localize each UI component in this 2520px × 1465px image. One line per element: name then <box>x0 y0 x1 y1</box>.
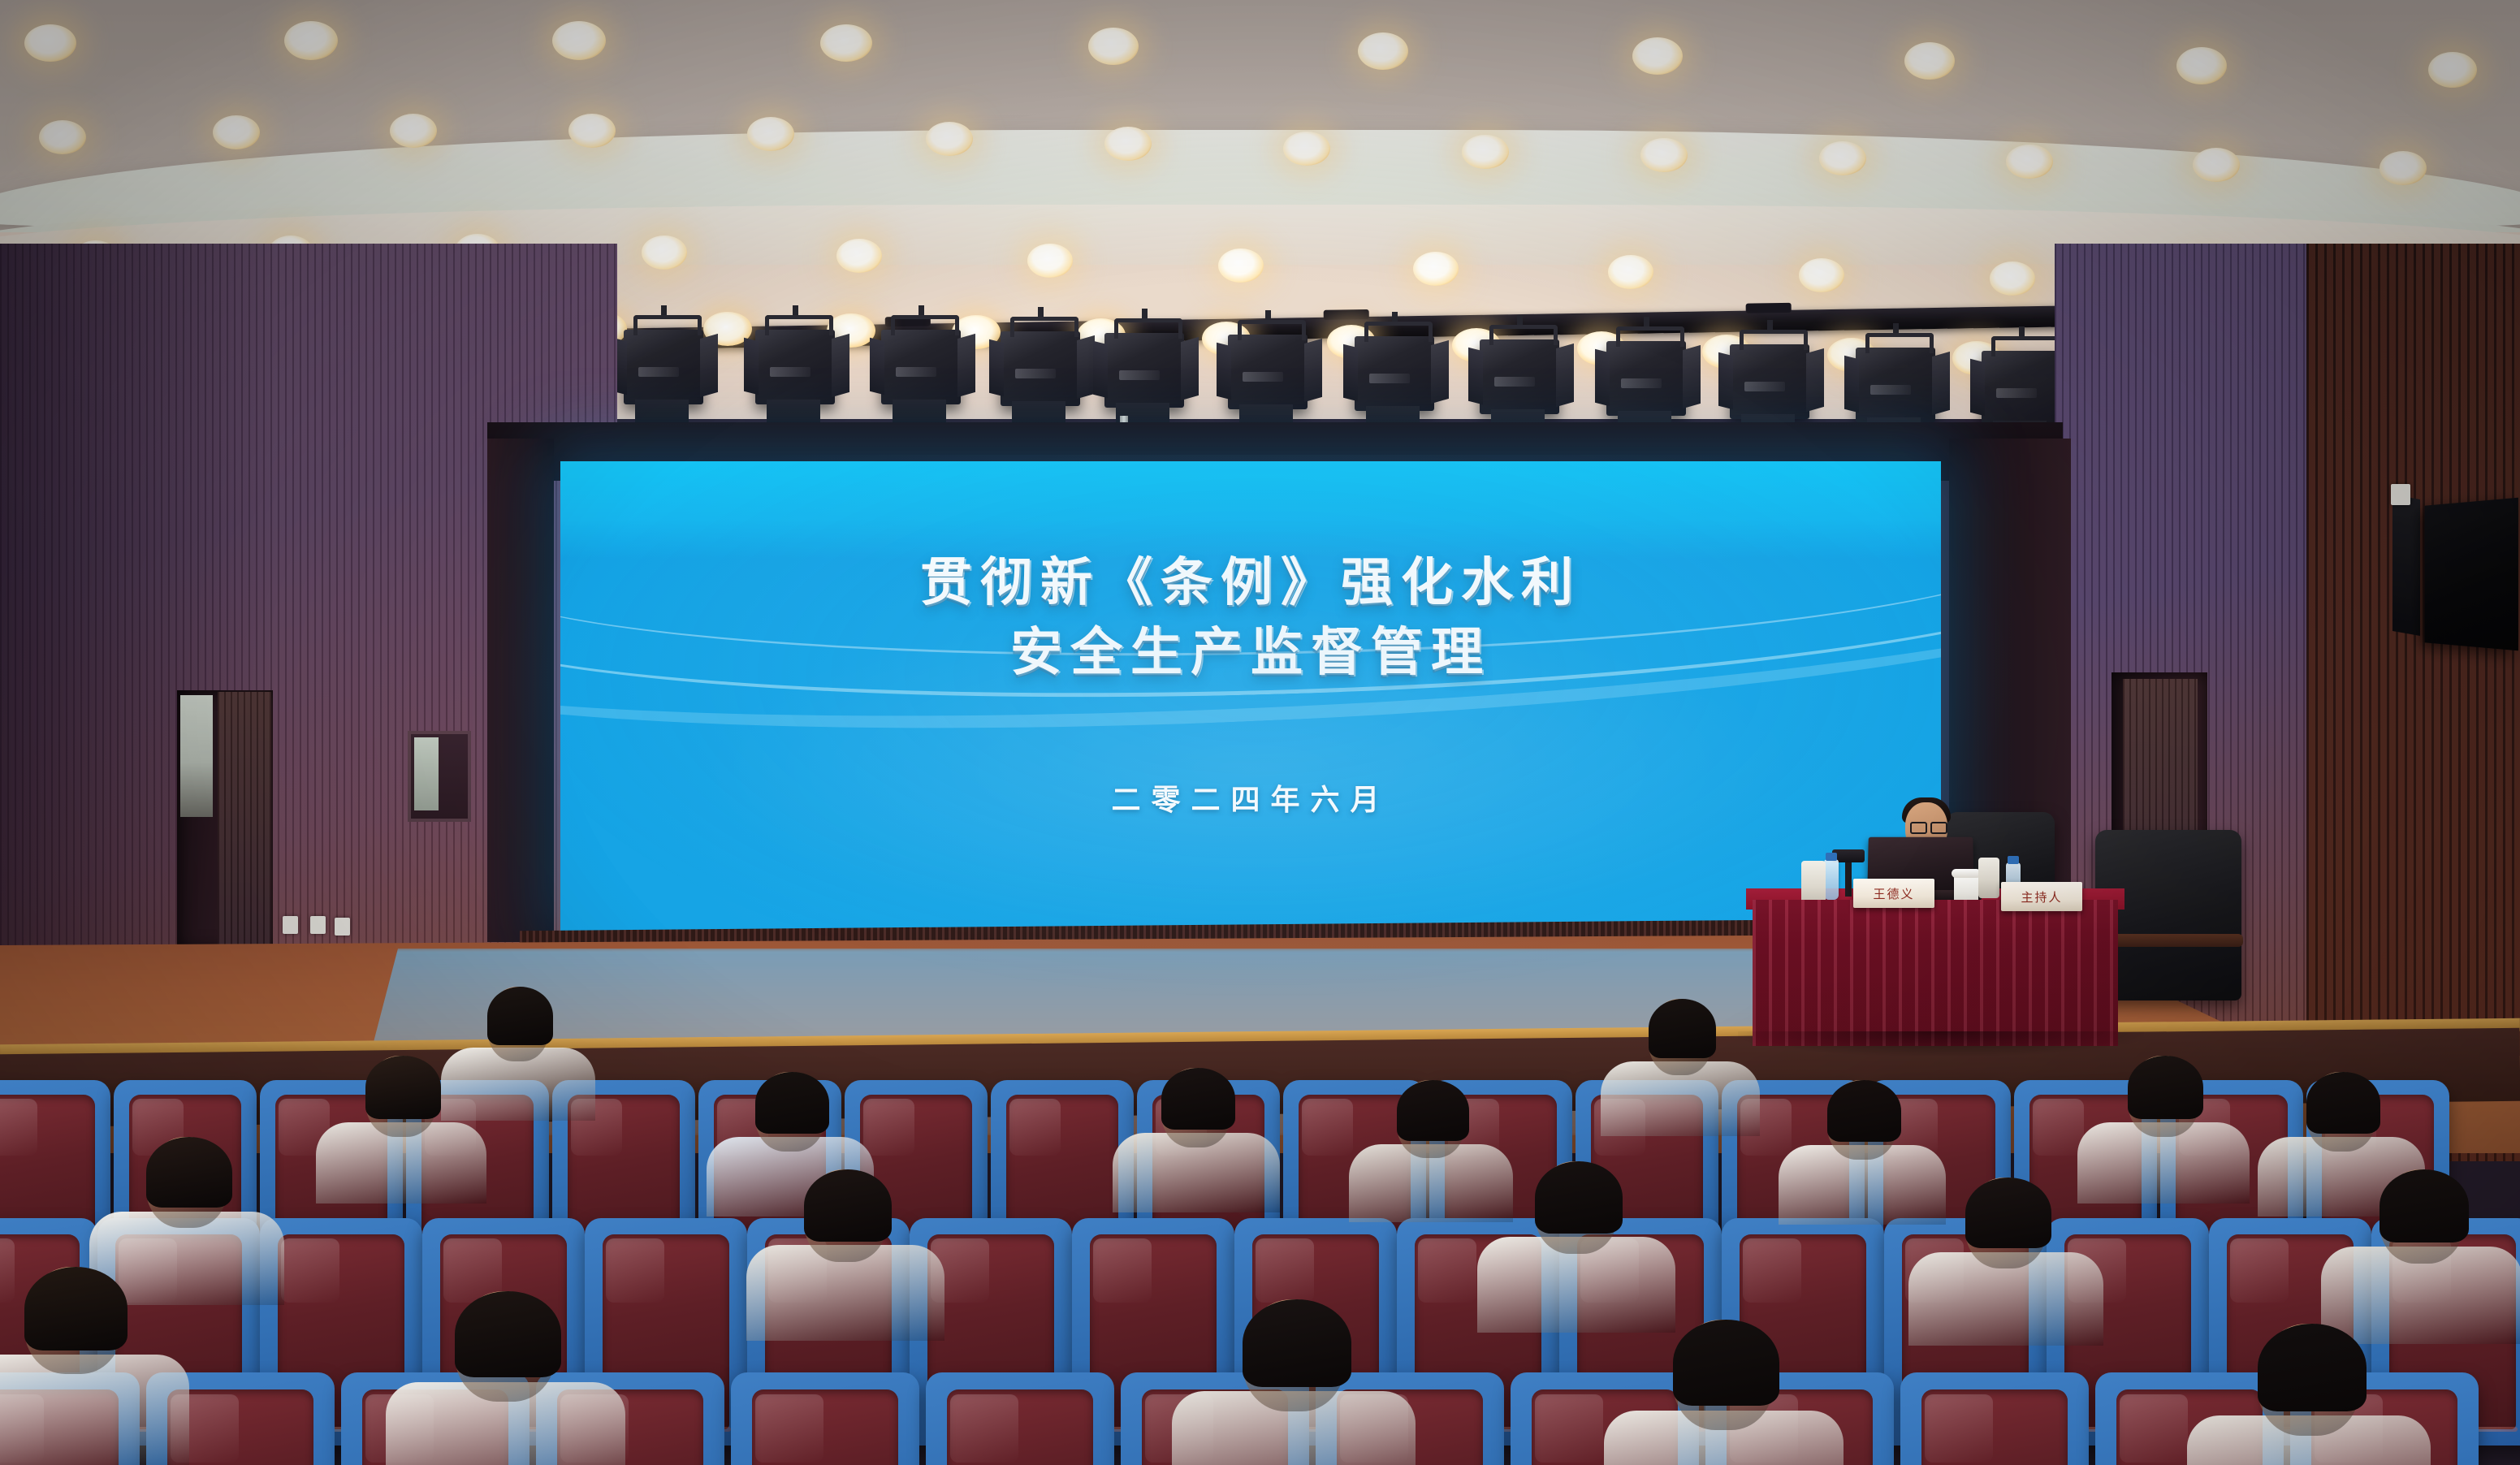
speaker-cable-plate <box>2391 484 2410 505</box>
stage-spotlight-7 <box>755 330 835 404</box>
attendee-hair <box>365 1056 441 1119</box>
stage-spotlight-15 <box>1730 344 1809 419</box>
downlight-r2-14 <box>2380 151 2427 185</box>
stage-spotlight-12 <box>1355 336 1434 411</box>
downlight-r3-8 <box>1413 252 1459 286</box>
stage-spotlight-13 <box>1480 339 1559 414</box>
slide-title-line-1: 贯彻新《条例》强化水利 <box>560 549 1941 619</box>
downlight-r2-10 <box>1640 138 1688 172</box>
downlight-r3-7 <box>1218 248 1264 283</box>
downlight-r2-7 <box>1104 127 1152 161</box>
attendee-hair <box>2306 1072 2380 1134</box>
downlight-r2-12 <box>2006 145 2053 179</box>
stage-spotlight-16 <box>1856 348 1935 422</box>
head-table-skirt <box>1753 900 2118 1046</box>
attendee-hair <box>1397 1080 1469 1141</box>
downlight-r2-5 <box>747 117 794 151</box>
attendee-hair <box>755 1072 829 1134</box>
downlight-r3-4 <box>642 236 687 270</box>
attendee-hair <box>1827 1080 1901 1142</box>
attendee-hair <box>2128 1056 2203 1119</box>
attendee-hair <box>804 1169 892 1242</box>
audience-seat-r3-6[interactable] <box>926 1372 1114 1465</box>
downlight-r1-6 <box>1358 32 1408 70</box>
attendee-hair <box>1535 1161 1623 1234</box>
stage-spotlight-6 <box>624 330 703 404</box>
wall-speaker <box>2425 498 2518 651</box>
downlight-r3-11 <box>1990 261 2035 296</box>
water-bottle-cap-2 <box>2008 856 2019 864</box>
stage-spotlight-14 <box>1606 341 1686 416</box>
downlight-r1-10 <box>2428 52 2477 88</box>
downlight-r3-9 <box>1608 255 1653 289</box>
water-bottle-1 <box>1824 859 1839 900</box>
attendee-hair <box>1673 1320 1779 1406</box>
proscenium-left-jamb <box>487 439 554 942</box>
audience-seat-r3-11[interactable] <box>1900 1372 2089 1465</box>
led-presentation-screen: 贯彻新《条例》强化水利 安全生产监督管理 二零二四年六月 <box>560 461 1941 934</box>
attendee-hair <box>455 1291 561 1377</box>
downlight-r2-9 <box>1462 135 1509 169</box>
attendee-hair <box>24 1267 128 1350</box>
attendee-hair <box>1965 1178 2051 1248</box>
left-doorway-light-gap <box>180 695 213 817</box>
tea-cup-lid <box>1952 869 1981 878</box>
downlight-r2-2 <box>213 115 260 149</box>
wall-speaker-side <box>2392 495 2420 636</box>
slide-title-line-2: 安全生产监督管理 <box>560 619 1941 689</box>
downlight-r1-8 <box>1904 42 1955 80</box>
water-bottle-cap-1 <box>1826 853 1837 861</box>
downlight-r1-2 <box>284 21 338 60</box>
stage-spotlight-11 <box>1228 335 1308 409</box>
auditorium-photo: 贯彻新《条例》强化水利 安全生产监督管理 二零二四年六月 王德义 主持人 <box>0 0 2520 1465</box>
downlight-r3-5 <box>836 239 882 273</box>
downlight-r2-11 <box>1819 141 1866 175</box>
attendee-hair <box>2258 1324 2367 1411</box>
downlight-r1-5 <box>1088 28 1139 65</box>
audience-seat-r3-5[interactable] <box>731 1372 919 1465</box>
downlight-r2-4 <box>568 114 616 148</box>
downlight-r1-7 <box>1632 37 1683 75</box>
attendee-hair <box>487 987 553 1045</box>
downlight-r2-8 <box>1283 132 1330 166</box>
downlight-r2-1 <box>39 120 86 154</box>
downlight-r1-3 <box>552 21 606 60</box>
downlight-r1-4 <box>820 24 872 62</box>
downlight-r1-1 <box>24 24 76 62</box>
downlight-r1-9 <box>2176 47 2227 84</box>
light-switch-1[interactable] <box>283 916 298 934</box>
attendee-hair <box>1161 1068 1235 1130</box>
stage-spotlight-10 <box>1104 333 1184 408</box>
presenter-glasses-icon <box>1910 822 1944 831</box>
downlight-r3-6 <box>1027 244 1073 278</box>
microphone-stand <box>1845 859 1852 897</box>
head-table-shadow <box>1738 1031 2144 1056</box>
downlight-r2-13 <box>2193 148 2240 182</box>
stage-spotlight-8 <box>881 330 961 404</box>
downlight-r2-6 <box>926 122 973 156</box>
attendee-hair <box>146 1137 232 1208</box>
downlight-r2-3 <box>390 114 437 148</box>
left-wall-window <box>408 731 471 822</box>
nameplate-speaker: 王德义 <box>1853 879 1934 908</box>
downlight-r3-10 <box>1799 258 1844 292</box>
stage-spotlight-17 <box>1982 351 2061 426</box>
stage-spotlight-9 <box>1001 331 1080 406</box>
nameplate-moderator: 主持人 <box>2001 882 2082 911</box>
paper-cup <box>1978 858 1999 898</box>
attendee-hair <box>1649 999 1716 1058</box>
attendee-hair <box>2380 1169 2469 1242</box>
slide-title: 贯彻新《条例》强化水利 安全生产监督管理 <box>560 549 1941 689</box>
attendee-hair <box>1243 1299 1351 1387</box>
left-door-leaf[interactable] <box>218 692 271 949</box>
light-switch-3[interactable] <box>335 918 350 936</box>
slide-date: 二零二四年六月 <box>560 776 1941 819</box>
light-switch-2[interactable] <box>310 916 326 934</box>
